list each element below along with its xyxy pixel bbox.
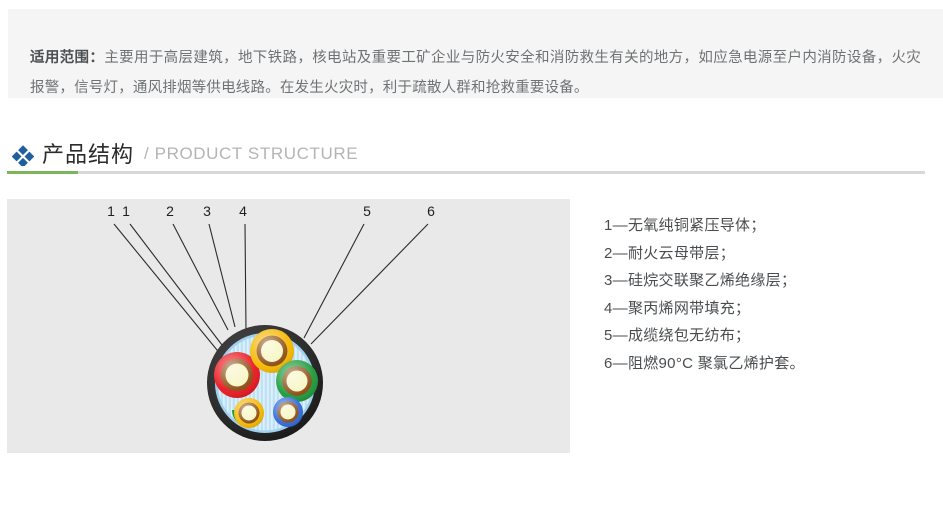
core-yellow-sm-shading xyxy=(234,398,264,428)
leader-labels-group: 1123456 xyxy=(107,203,435,219)
page-title: 产品结构 xyxy=(42,137,134,169)
leader-label-1: 1 xyxy=(107,203,115,219)
page-title-english: / PRODUCT STRUCTURE xyxy=(144,144,358,164)
section-header-product-structure: 产品结构 / PRODUCT STRUCTURE xyxy=(7,134,936,176)
leader-line-1 xyxy=(114,224,235,372)
core-blue-shading xyxy=(273,397,303,427)
application-scope-banner: 适用范围：主要用于高层建筑，地下铁路，核电站及重要工矿企业与防火安全和消防救生有… xyxy=(8,9,943,98)
leader-line-3 xyxy=(173,224,228,330)
leader-label-3: 2 xyxy=(166,203,174,219)
list-item: 3—硅烷交联聚乙烯绝缘层； xyxy=(604,267,924,295)
diamond-cluster-icon xyxy=(12,144,34,166)
cable-graphic xyxy=(207,325,323,441)
cable-cross-section-diagram: 1123456 xyxy=(7,199,570,453)
structure-legend-list: 1—无氧纯铜紧压导体； 2—耐火云母带层； 3—硅烷交联聚乙烯绝缘层； 4—聚丙… xyxy=(604,212,924,377)
leader-label-6: 5 xyxy=(363,203,371,219)
leader-label-5: 4 xyxy=(239,203,247,219)
list-item: 2—耐火云母带层； xyxy=(604,240,924,268)
leader-line-5 xyxy=(245,224,246,331)
list-item: 6—阻燃90°C 聚氯乙烯护套。 xyxy=(604,350,924,378)
heading-divider xyxy=(7,171,925,174)
leader-line-2 xyxy=(130,224,222,345)
core-green-shading xyxy=(276,360,318,402)
leader-line-7 xyxy=(311,224,428,344)
heading-divider-accent xyxy=(7,171,78,174)
leader-line-4 xyxy=(209,224,235,327)
list-item: 5—成缆绕包无纺布； xyxy=(604,322,924,350)
leader-label-2: 1 xyxy=(122,203,130,219)
cable-cross-section-panel: 1123456 xyxy=(7,199,570,453)
application-scope-label: 适用范围： xyxy=(30,50,104,66)
leader-label-7: 6 xyxy=(427,203,435,219)
list-item: 1—无氧纯铜紧压导体； xyxy=(604,212,924,240)
leader-label-4: 3 xyxy=(203,203,211,219)
list-item: 4—聚丙烯网带填充； xyxy=(604,295,924,323)
application-scope-text: 适用范围：主要用于高层建筑，地下铁路，核电站及重要工矿企业与防火安全和消防救生有… xyxy=(30,43,921,103)
application-scope-body: 主要用于高层建筑，地下铁路，核电站及重要工矿企业与防火安全和消防救生有关的地方，… xyxy=(30,50,921,96)
